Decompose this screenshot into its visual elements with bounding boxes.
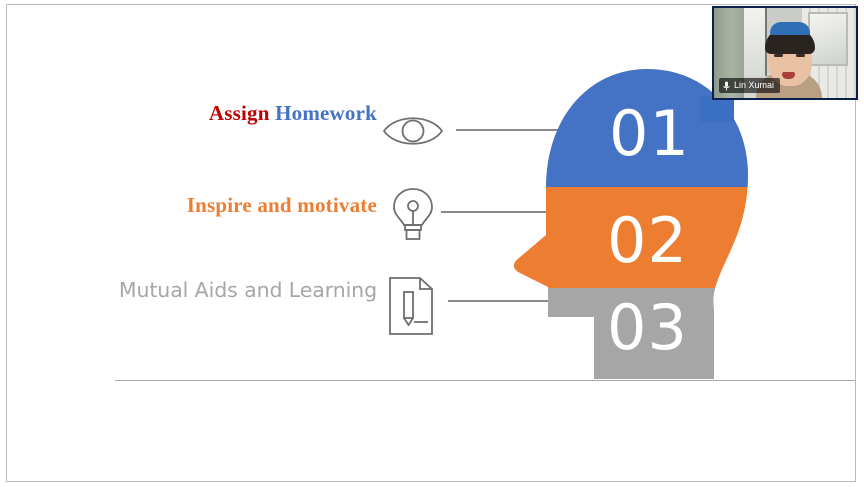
- participant-name-label: Lin Xumai: [734, 80, 774, 91]
- step-label-row-2: Inspire and motivate: [127, 195, 377, 216]
- participant-headband: [770, 22, 810, 35]
- lightbulb-icon: [390, 187, 436, 245]
- slide-divider-line: [115, 380, 855, 381]
- step-1-label-part-2: Homework: [275, 101, 377, 125]
- step-1-label-part-1: Assign: [209, 101, 270, 125]
- step-number-01: 01: [609, 103, 690, 165]
- participant-eye-left: [774, 54, 783, 57]
- step-number-02: 02: [607, 210, 688, 272]
- microphone-icon: [723, 81, 730, 91]
- step-2-label: Inspire and motivate: [187, 195, 377, 216]
- background-window: [743, 8, 767, 76]
- participant-video-tile[interactable]: Lin Xumai: [712, 6, 858, 100]
- step-1-label: Assign Homework: [209, 103, 377, 124]
- step-3-label: Mutual Aids and Learning: [119, 280, 377, 301]
- step-label-row-1: Assign Homework: [127, 103, 377, 124]
- document-pencil-icon: [388, 276, 434, 336]
- participant-mouth: [782, 72, 795, 79]
- step-label-row-3: Mutual Aids and Learning: [87, 280, 377, 301]
- background-mirror: [808, 12, 848, 66]
- step-number-03: 03: [607, 297, 688, 359]
- eye-icon: [382, 109, 444, 153]
- screen-root: Assign Homework Inspire and motivate Mut…: [0, 0, 864, 487]
- participant-eye-right: [796, 54, 805, 57]
- participant-name-badge: Lin Xumai: [719, 78, 780, 93]
